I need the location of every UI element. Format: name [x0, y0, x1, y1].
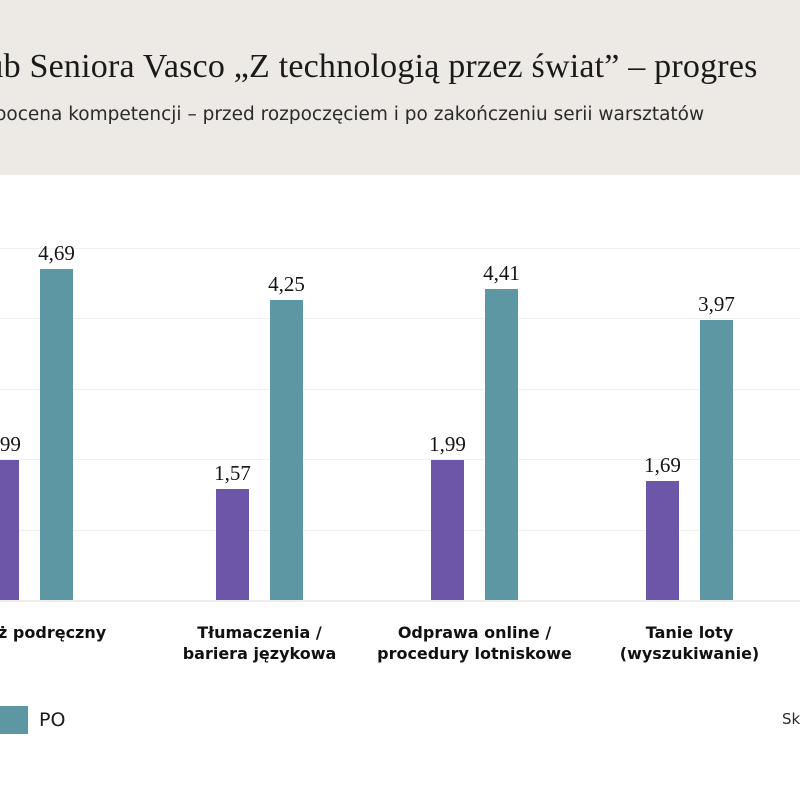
- bar-value-label: 4,25: [242, 272, 332, 297]
- bar-value-label: 3,97: [672, 292, 762, 317]
- legend-item-po[interactable]: PO: [0, 706, 65, 734]
- chart-plot-area: 1,994,691,574,251,994,411,693,97: [0, 175, 800, 610]
- legend-label: PO: [39, 709, 65, 731]
- bar-value-label: 4,41: [457, 261, 547, 286]
- bar-przed-2: [431, 460, 464, 600]
- bar-value-label: 1,69: [618, 453, 708, 478]
- bar-przed-3: [646, 481, 679, 600]
- bar-po-1: [270, 300, 303, 600]
- bar-value-label: 1,99: [0, 432, 48, 457]
- bar-value-label: 1,57: [188, 461, 278, 486]
- chart-x-axis-labels: Bagaż podręcznyTłumaczenia / bariera jęz…: [0, 610, 800, 688]
- chart-header-band: Klub Seniora Vasco „Z technologią przez …: [0, 0, 800, 175]
- axis-baseline: [0, 600, 800, 602]
- bar-przed-1: [216, 489, 249, 600]
- chart-legend: PRZEDPO: [0, 700, 800, 740]
- chart-footnote: Skala 1–5: [782, 710, 800, 728]
- gridline: [0, 318, 800, 319]
- x-axis-label-2: Odprawa online / procedury lotniskowe: [365, 622, 585, 664]
- page-title: Klub Seniora Vasco „Z technologią przez …: [0, 48, 800, 86]
- gridline: [0, 530, 800, 531]
- gridline: [0, 389, 800, 390]
- x-axis-label-0: Bagaż podręczny: [0, 622, 140, 643]
- x-axis-label-1: Tłumaczenia / bariera językowa: [150, 622, 370, 664]
- bar-value-label: 1,99: [403, 432, 493, 457]
- bar-value-label: 4,69: [12, 241, 102, 266]
- legend-swatch-icon: [0, 706, 28, 734]
- chart-subtitle: Samoocena kompetencji – przed rozpoczęci…: [0, 104, 800, 125]
- x-axis-label-3: Tanie loty (wyszukiwanie): [580, 622, 800, 664]
- bar-przed-0: [0, 460, 19, 600]
- gridline: [0, 248, 800, 249]
